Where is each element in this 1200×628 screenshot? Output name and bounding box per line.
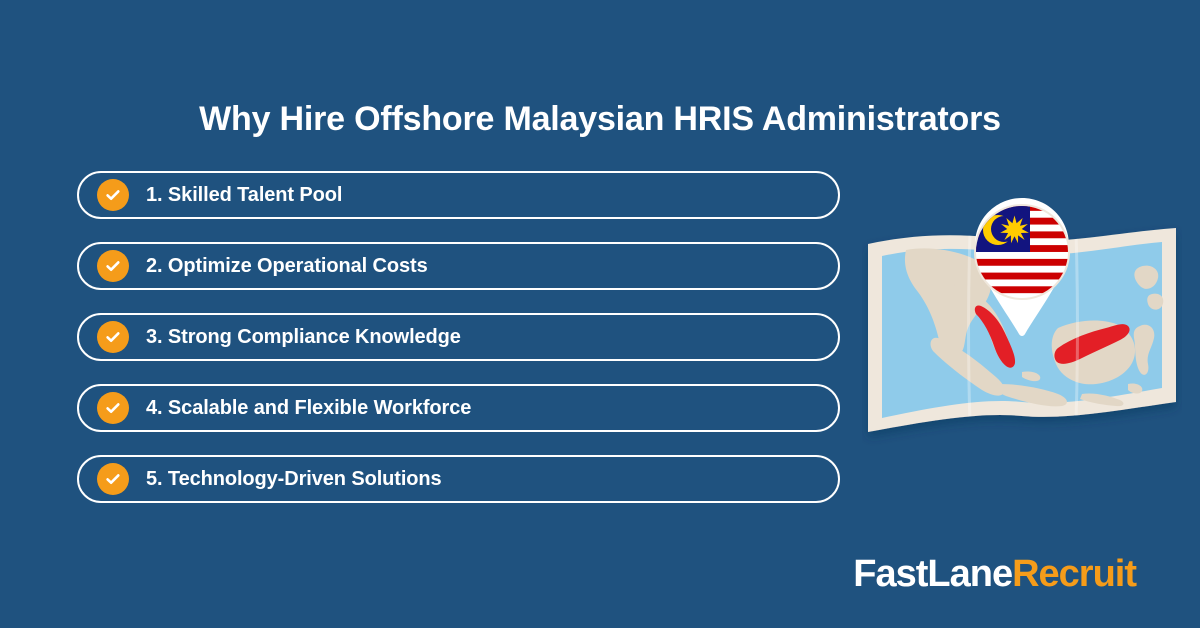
benefit-card-5[interactable]: 5. Technology-Driven Solutions <box>77 455 840 503</box>
brand-logo-primary: FastLane <box>853 553 1012 595</box>
benefit-list: 1. Skilled Talent Pool 2. Optimize Opera… <box>77 171 840 503</box>
check-circle-icon <box>97 179 129 211</box>
check-circle-icon <box>97 321 129 353</box>
page-title: Why Hire Offshore Malaysian HRIS Adminis… <box>0 98 1200 140</box>
infographic-canvas: Why Hire Offshore Malaysian HRIS Adminis… <box>0 0 1200 628</box>
malaysia-map-pin-illustration <box>862 188 1182 450</box>
benefit-label: 2. Optimize Operational Costs <box>146 255 428 278</box>
benefit-card-1[interactable]: 1. Skilled Talent Pool <box>77 171 840 219</box>
benefit-card-2[interactable]: 2. Optimize Operational Costs <box>77 242 840 290</box>
benefit-label: 1. Skilled Talent Pool <box>146 184 342 207</box>
brand-logo-accent: Recruit <box>1012 553 1136 595</box>
check-circle-icon <box>97 463 129 495</box>
benefit-card-4[interactable]: 4. Scalable and Flexible Workforce <box>77 384 840 432</box>
benefit-label: 3. Strong Compliance Knowledge <box>146 326 461 349</box>
benefit-label: 4. Scalable and Flexible Workforce <box>146 397 471 420</box>
check-circle-icon <box>97 392 129 424</box>
benefit-card-3[interactable]: 3. Strong Compliance Knowledge <box>77 313 840 361</box>
brand-logo[interactable]: FastLaneRecruit <box>853 552 1136 596</box>
check-circle-icon <box>97 250 129 282</box>
benefit-label: 5. Technology-Driven Solutions <box>146 468 442 491</box>
